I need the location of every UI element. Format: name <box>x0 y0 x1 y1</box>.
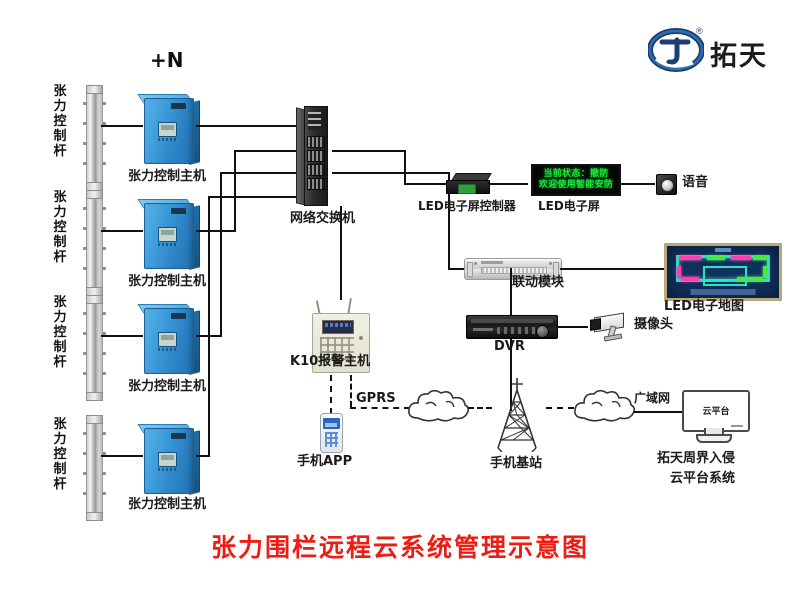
tension-pole-2 <box>86 190 103 296</box>
led-screen-device: 当前状态：撤防 欢迎使用智能安防 <box>531 164 621 196</box>
base-station-tower <box>490 378 544 452</box>
wire-link-ledmap <box>560 268 664 270</box>
led-screen-label: LED电子屏 <box>538 200 600 214</box>
wire-pole1-host1 <box>101 125 143 127</box>
cloud-platform-label-line2: 云平台系统 <box>670 472 735 487</box>
wire-tower-cloud2 <box>546 407 574 409</box>
wire-host4-b <box>208 196 210 457</box>
pole-label-4: 张力控制杆 <box>52 417 68 492</box>
base-station-label: 手机基站 <box>490 457 542 472</box>
diagram-canvas: ® 拓天 +N 张力控制杆 张力控制主机 张力控制杆 张力控制主机 张力控制杆 <box>0 0 800 600</box>
network-switch <box>296 106 332 204</box>
tension-host-3 <box>138 304 200 376</box>
wire-cloud1-tower <box>468 407 492 409</box>
wire-k10-gprs-v <box>350 375 352 407</box>
brand-name: 拓天 <box>710 34 768 73</box>
led-controller-label: LED电子屏控制器 <box>418 200 516 214</box>
cloud-platform-monitor: 云平台 <box>682 390 746 440</box>
led-map-device <box>664 243 782 301</box>
brand-logo: ® 拓天 <box>648 28 788 74</box>
camera-label: 摄像头 <box>634 318 673 333</box>
cloud-icon-1 <box>406 388 472 426</box>
wire-switch-k10 <box>340 206 342 300</box>
wire-pole4-host4 <box>101 455 143 457</box>
wire-ledscreen-voice <box>619 183 655 185</box>
tension-pole-1 <box>86 85 103 191</box>
wire-dvr-camera <box>556 326 588 328</box>
wire-switch-link-c <box>448 268 464 270</box>
voice-label: 语音 <box>682 176 708 191</box>
wire-pole3-host3 <box>101 335 143 337</box>
wire-host2-a <box>196 230 236 232</box>
wire-host4-switch <box>208 196 296 198</box>
wire-host2-b <box>234 150 236 232</box>
wan-label: 广域网 <box>634 392 670 406</box>
wire-ledctrl-ledscreen <box>488 183 528 185</box>
camera-device <box>590 313 630 339</box>
led-controller-device <box>446 173 488 195</box>
wire-switch-link-a <box>332 172 450 174</box>
led-screen-line1: 当前状态：撤防 <box>543 169 608 180</box>
wire-switch-ledctrl-a <box>332 150 406 152</box>
tension-host-label-1: 张力控制主机 <box>128 170 206 185</box>
led-screen-line2: 欢迎使用智能安防 <box>539 180 613 191</box>
pole-label-2: 张力控制杆 <box>52 190 68 265</box>
dvr-device <box>466 315 558 339</box>
tension-host-label-4: 张力控制主机 <box>128 498 206 513</box>
cloud-platform-label-line1: 拓天周界入侵 <box>657 452 735 467</box>
gprs-label: GPRS <box>356 392 396 407</box>
wire-switch-ledctrl-c <box>404 183 446 185</box>
tension-host-label-3: 张力控制主机 <box>128 380 206 395</box>
tension-host-1 <box>138 94 200 166</box>
wire-switch-ledctrl-b <box>404 150 406 184</box>
phone-app-label: 手机APP <box>297 455 352 470</box>
k10-alarm-host-label: K10报警主机 <box>290 355 370 370</box>
wire-pole2-host2 <box>101 230 143 232</box>
phone-app-device <box>320 413 343 453</box>
tension-host-4 <box>138 424 200 496</box>
voice-speaker-icon <box>656 174 677 195</box>
wire-wan <box>634 411 684 413</box>
wire-dvr-join <box>510 409 512 411</box>
tension-pole-3 <box>86 295 103 401</box>
wire-host3-switch <box>220 172 296 174</box>
linkage-module-label: 联动模块 <box>512 276 564 291</box>
diagram-title: 张力围栏远程云系统管理示意图 <box>0 528 800 564</box>
wire-host1-switch <box>196 125 296 127</box>
pole-label-1: 张力控制杆 <box>52 84 68 159</box>
pole-label-3: 张力控制杆 <box>52 295 68 370</box>
wire-k10-gprs-h <box>350 407 410 409</box>
tension-host-label-2: 张力控制主机 <box>128 275 206 290</box>
tension-host-2 <box>138 199 200 271</box>
tension-pole-4 <box>86 415 103 521</box>
cloud-icon-2 <box>572 388 638 426</box>
wire-link-dvr <box>510 268 512 316</box>
led-map-label: LED电子地图 <box>664 300 744 315</box>
registered-mark: ® <box>696 26 703 36</box>
plus-n-label: +N <box>150 48 184 72</box>
cloud-platform-screen-text: 云平台 <box>684 404 748 417</box>
wire-host2-switch <box>234 150 296 152</box>
network-switch-label: 网络交换机 <box>290 212 355 227</box>
